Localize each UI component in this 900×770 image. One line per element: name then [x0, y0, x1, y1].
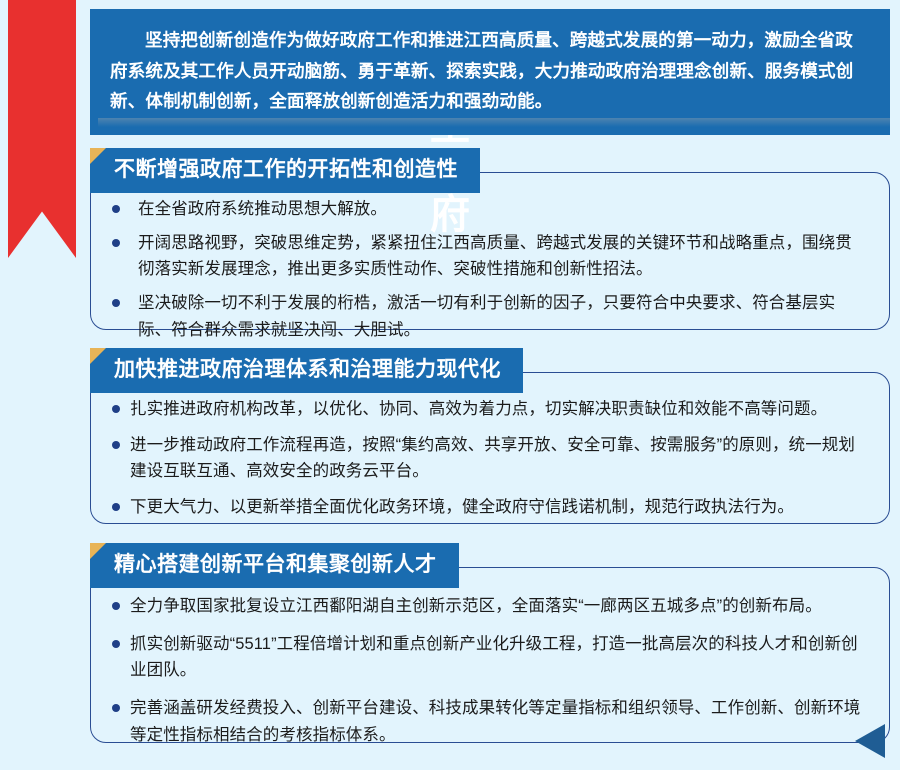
corner-notch-icon — [90, 348, 106, 364]
section-3-header: 精心搭建创新平台和集聚创新人才 — [90, 543, 459, 588]
intro-shadow — [98, 118, 890, 127]
section-1-header: 不断增强政府工作的开拓性和创造性 — [90, 148, 480, 193]
list-item-text: 全力争取国家批复设立江西鄱阳湖自主创新示范区，全面落实“一廊两区五城多点”的创新… — [130, 593, 864, 620]
list-item: 坚决破除一切不利于发展的桁梏，激活一切有利于创新的因子，只要符合中央要求、符合基… — [112, 290, 864, 343]
list-item-text: 坚决破除一切不利于发展的桁梏，激活一切有利于创新的因子，只要符合中央要求、符合基… — [130, 290, 864, 343]
list-item-text: 开阔思路视野，突破思维定势，紧紧扭住江西高质量、跨越式发展的关键环节和战略重点，… — [130, 230, 864, 283]
intro-block: 坚持把创新创造作为做好政府工作和推进江西高质量、跨越式发展的第一动力，激励全省政… — [90, 9, 890, 135]
section-2-header: 加快推进政府治理体系和治理能力现代化 — [90, 348, 523, 393]
bullet-dot-icon — [112, 405, 120, 413]
corner-notch-icon — [90, 148, 106, 164]
bullet-dot-icon — [112, 704, 120, 712]
bullet-dot-icon — [112, 441, 120, 449]
corner-notch-icon — [90, 543, 106, 559]
section-2-title-bar: 加快推进政府治理体系和治理能力现代化 — [90, 348, 523, 393]
section-3-bullet-list: 全力争取国家批复设立江西鄱阳湖自主创新示范区，全面落实“一廊两区五城多点”的创新… — [90, 593, 890, 760]
list-item: 扎实推进政府机构改革，以优化、协同、高效为着力点，切实解决职责缺位和效能不高等问… — [112, 396, 864, 423]
list-item-text: 扎实推进政府机构改革，以优化、协同、高效为着力点，切实解决职责缺位和效能不高等问… — [130, 396, 864, 423]
bullet-dot-icon — [112, 503, 120, 511]
bullet-dot-icon — [112, 239, 120, 247]
list-item: 下更大气力、以更新举措全面优化政务环境，健全政府守信践诺机制，规范行政执法行为。 — [112, 494, 864, 521]
bullet-dot-icon — [112, 602, 120, 610]
bullet-dot-icon — [112, 299, 120, 307]
bullet-dot-icon — [112, 205, 120, 213]
list-item: 在全省政府系统推动思想大解放。 — [112, 196, 864, 223]
section-3-title-bar: 精心搭建创新平台和集聚创新人才 — [90, 543, 459, 588]
intro-paragraph: 坚持把创新创造作为做好政府工作和推进江西高质量、跨越式发展的第一动力，激励全省政… — [110, 25, 870, 117]
list-item-text: 进一步推动政府工作流程再造，按照“集约高效、共享开放、安全可靠、按需服务”的原则… — [130, 432, 864, 485]
list-item-text: 完善涵盖研发经费投入、创新平台建设、科技成果转化等定量指标和组织领导、工作创新、… — [130, 695, 864, 748]
list-item-text: 抓实创新驱动“5511”工程倍增计划和重点创新产业化升级工程，打造一批高层次的科… — [130, 631, 864, 684]
bullet-dot-icon — [112, 640, 120, 648]
section-1-title: 不断增强政府工作的开拓性和创造性 — [114, 158, 458, 181]
section-2-title: 加快推进政府治理体系和治理能力现代化 — [114, 358, 501, 381]
section-3-title: 精心搭建创新平台和集聚创新人才 — [114, 553, 437, 576]
list-item-text: 在全省政府系统推动思想大解放。 — [130, 196, 864, 223]
list-item: 全力争取国家批复设立江西鄱阳湖自主创新示范区，全面落实“一廊两区五城多点”的创新… — [112, 593, 864, 620]
section-2-bullet-list: 扎实推进政府机构改革，以优化、协同、高效为着力点，切实解决职责缺位和效能不高等问… — [90, 396, 890, 530]
list-item: 完善涵盖研发经费投入、创新平台建设、科技成果转化等定量指标和组织领导、工作创新、… — [112, 695, 864, 748]
list-item-text: 下更大气力、以更新举措全面优化政务环境，健全政府守信践诺机制，规范行政执法行为。 — [130, 494, 864, 521]
list-item: 开阔思路视野，突破思维定势，紧紧扭住江西高质量、跨越式发展的关键环节和战略重点，… — [112, 230, 864, 283]
list-item: 抓实创新驱动“5511”工程倍增计划和重点创新产业化升级工程，打造一批高层次的科… — [112, 631, 864, 684]
section-1-bullet-list: 在全省政府系统推动思想大解放。 开阔思路视野，突破思维定势，紧紧扭住江西高质量、… — [90, 196, 890, 351]
list-item: 进一步推动政府工作流程再造，按照“集约高效、共享开放、安全可靠、按需服务”的原则… — [112, 432, 864, 485]
section-1-title-bar: 不断增强政府工作的开拓性和创造性 — [90, 148, 480, 193]
